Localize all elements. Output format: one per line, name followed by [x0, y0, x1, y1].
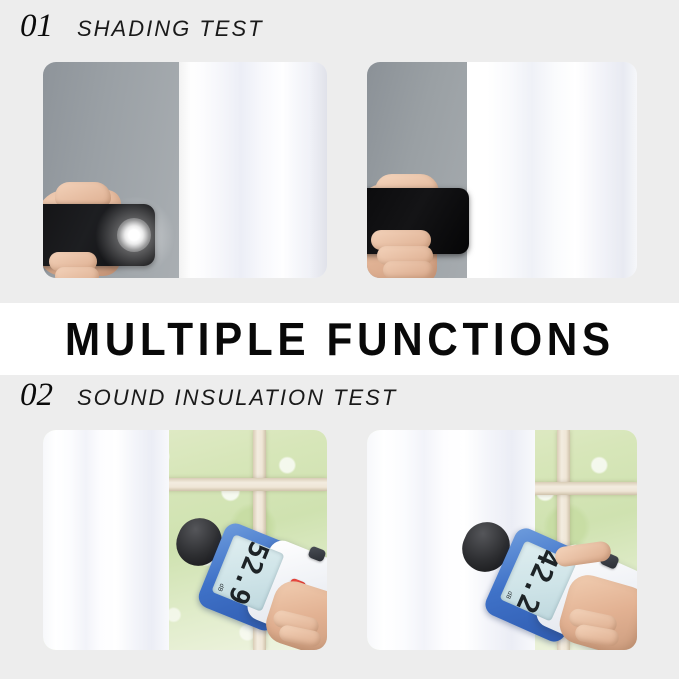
section-header-02: 02 SOUND INSULATION TEST [20, 379, 397, 412]
banner-multiple-functions: MULTIPLE FUNCTIONS [0, 303, 679, 375]
banner-text: MULTIPLE FUNCTIONS [65, 312, 615, 366]
section-number-01: 01 [20, 10, 53, 43]
photo-panel-meter-window-uncovered: 52.9 dB BENETECH [43, 430, 327, 650]
photo-panel-flashlight-blocked [367, 62, 637, 278]
section-title-02: SOUND INSULATION TEST [77, 387, 397, 409]
section-header-01: 01 SHADING TEST [20, 10, 264, 43]
white-curtain-panel [467, 62, 637, 278]
white-curtain-panel [43, 430, 169, 650]
section-title-01: SHADING TEST [77, 18, 264, 40]
panel4-scene: 42.2 dB BENETECH Sound Level Meter [367, 430, 637, 650]
photo-panel-meter-window-covered: 42.2 dB BENETECH Sound Level Meter [367, 430, 637, 650]
panel1-scene [43, 62, 327, 278]
panel2-scene [367, 62, 637, 278]
section-number-02: 02 [20, 379, 53, 412]
meter-reading-value: 52.9 [221, 537, 274, 609]
infographic-page: 01 SHADING TEST [0, 0, 679, 679]
flashlight-beam-icon [117, 218, 151, 252]
white-curtain-panel [179, 62, 327, 278]
photo-panel-flashlight-uncovered [43, 62, 327, 278]
panel3-scene: 52.9 dB BENETECH [43, 430, 327, 650]
finger [55, 267, 99, 278]
finger [383, 261, 433, 278]
